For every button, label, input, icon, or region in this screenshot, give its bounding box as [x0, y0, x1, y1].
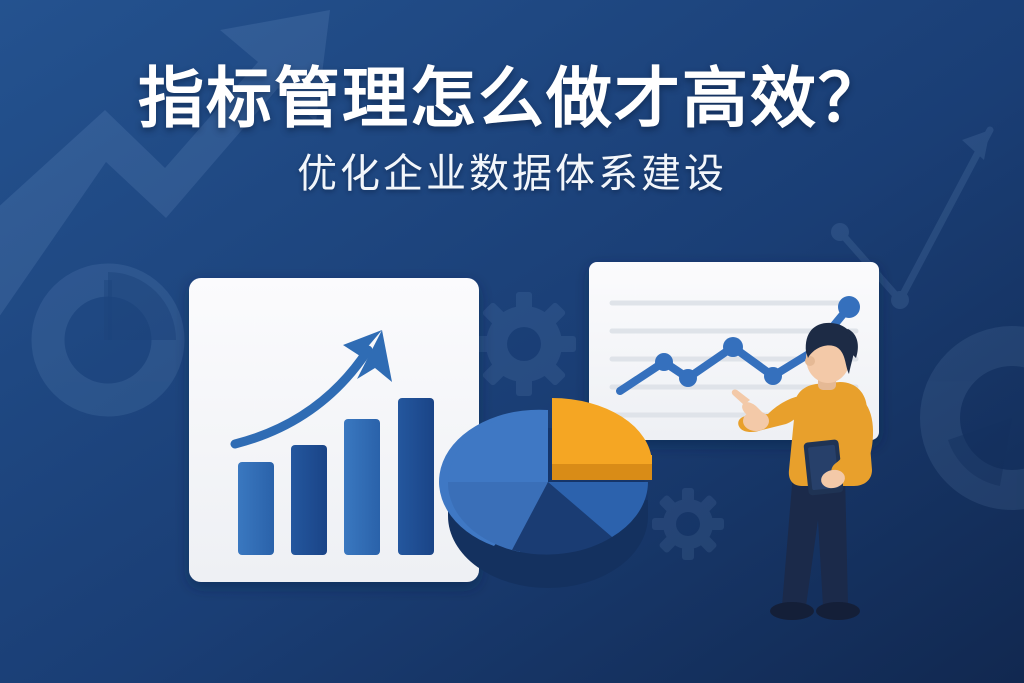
poster-root: 指标管理怎么做才高效？ 优化企业数据体系建设 — [0, 0, 1024, 683]
bar-2 — [291, 445, 327, 555]
presenter-ear — [805, 356, 815, 366]
presenter-shoe-left — [770, 602, 814, 620]
headline-block: 指标管理怎么做才高效？ 优化企业数据体系建设 — [0, 62, 1024, 198]
presenter-shoe-right — [816, 602, 860, 620]
page-subtitle: 优化企业数据体系建设 — [0, 150, 1024, 198]
bar-3 — [344, 419, 380, 555]
bar-4 — [398, 398, 434, 555]
bar-chart-card — [189, 278, 479, 582]
bar-1 — [238, 462, 274, 555]
page-title: 指标管理怎么做才高效？ — [0, 62, 1024, 136]
